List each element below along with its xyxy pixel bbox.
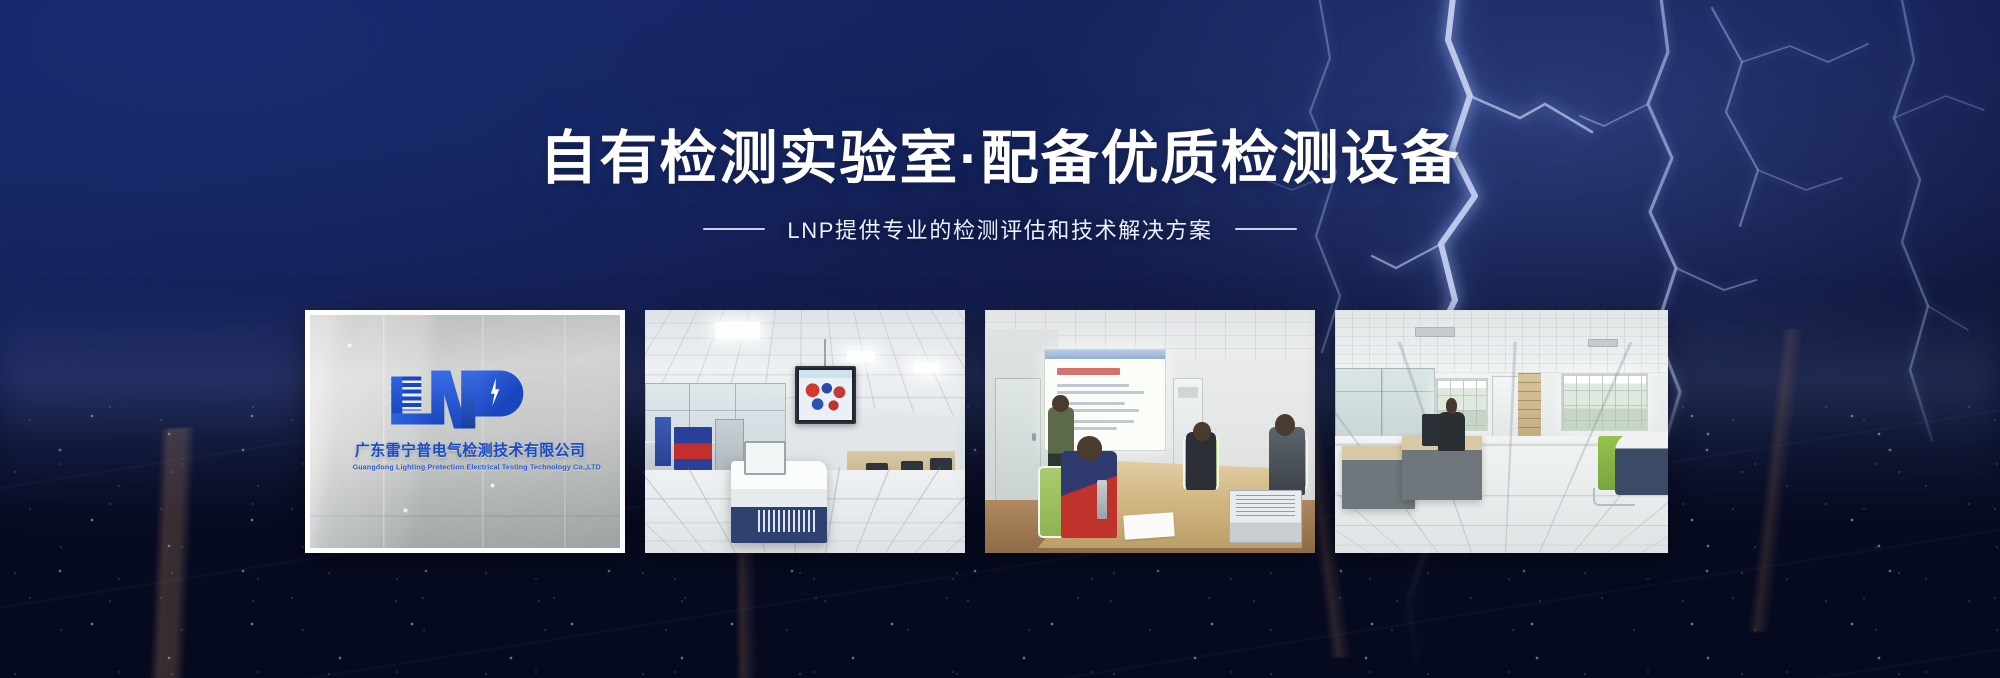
meeting-room-door <box>995 378 1041 509</box>
headline-block: 自有检测实验室·配备优质检测设备 LNP提供专业的检测评估和技术解决方案 <box>0 128 2000 245</box>
gallery-item-meeting-room[interactable] <box>985 310 1315 553</box>
lab-equipment-red <box>674 427 712 471</box>
ceiling-light <box>847 351 876 362</box>
company-name-en: Guangdong Lighting Protection Electrical… <box>353 462 578 471</box>
light-spark <box>490 483 495 488</box>
console-monitor <box>744 441 786 475</box>
lnp-logo-icon <box>385 364 545 432</box>
water-bottle <box>1097 480 1107 519</box>
photo-meeting-room-training <box>985 310 1315 553</box>
laptop-computer <box>1229 490 1302 543</box>
slide-line <box>1057 384 1129 387</box>
logo-p-stem <box>461 370 475 428</box>
paper-documents <box>1123 512 1174 540</box>
logo-n-stem <box>431 370 444 424</box>
rule-left-icon <box>703 228 765 230</box>
company-logo: 广东雷宁普电气检测技术有限公司 Guangdong Lighting Prote… <box>350 364 579 471</box>
slide-line <box>1057 391 1143 394</box>
photo-testing-laboratory <box>645 310 965 553</box>
wall-display <box>795 366 856 424</box>
slide-titlebar <box>1045 350 1165 359</box>
photo-company-logo-wall: 广东雷宁普电气检测技术有限公司 Guangdong Lighting Prote… <box>310 315 620 548</box>
company-name-cn: 广东雷宁普电气检测技术有限公司 <box>355 438 575 460</box>
subtitle-row: LNP提供专业的检测评估和技术解决方案 <box>0 213 2000 245</box>
photo-gallery: 广东雷宁普电气检测技术有限公司 Guangdong Lighting Prote… <box>305 310 1648 553</box>
office-worker <box>1438 412 1465 451</box>
gallery-item-logo-wall[interactable]: 广东雷宁普电气检测技术有限公司 Guangdong Lighting Prote… <box>305 310 625 553</box>
rule-right-icon <box>1235 228 1297 230</box>
hero-banner: 自有检测实验室·配备优质检测设备 LNP提供专业的检测评估和技术解决方案 <box>0 0 2000 678</box>
display-screen <box>799 370 852 420</box>
ceiling-light <box>715 322 760 339</box>
ceiling-light <box>914 363 940 373</box>
door-handle <box>1032 433 1036 441</box>
attendee-person-red <box>1061 451 1117 538</box>
reception-counter <box>1615 432 1668 495</box>
lab-equipment-blue <box>655 417 671 466</box>
attendee-head <box>1193 422 1211 441</box>
attendee-person-right <box>1269 427 1305 495</box>
slide-heading <box>1057 368 1119 375</box>
page-subtitle: LNP提供专业的检测评估和技术解决方案 <box>787 213 1212 245</box>
tv-mount-arm <box>824 339 826 368</box>
ceiling-vent <box>1415 327 1455 337</box>
gallery-item-laboratory[interactable] <box>645 310 965 553</box>
presenter-head <box>1052 395 1069 412</box>
attendee-head <box>1077 436 1102 460</box>
photo-office-area <box>1335 310 1668 553</box>
page-title: 自有检测实验室·配备优质检测设备 <box>0 128 2000 191</box>
gallery-item-office[interactable] <box>1335 310 1668 553</box>
